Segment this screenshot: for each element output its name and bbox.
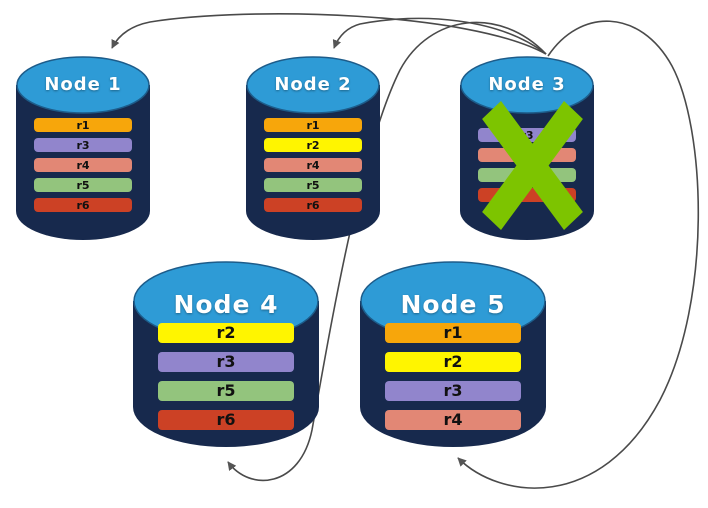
replica-row[interactable] bbox=[478, 188, 576, 202]
replica-row[interactable] bbox=[478, 168, 576, 182]
replica-row[interactable] bbox=[478, 148, 576, 162]
database-node-3[interactable]: Node 3r3 bbox=[460, 56, 594, 240]
replica-row[interactable]: r5 bbox=[158, 381, 294, 401]
replica-row-list: r2r3r5r6 bbox=[133, 323, 319, 430]
replica-row-list: r1r2r4r5r6 bbox=[246, 118, 380, 212]
replica-row[interactable]: r3 bbox=[385, 381, 521, 401]
replica-row-list: r1r3r4r5r6 bbox=[16, 118, 150, 212]
database-node-5[interactable]: Node 5r1r2r3r4 bbox=[360, 261, 546, 447]
diagram-canvas: Node 1r1r3r4r5r6Node 2r1r2r4r5r6Node 3r3… bbox=[0, 0, 708, 508]
replica-row[interactable]: r3 bbox=[34, 138, 132, 152]
database-node-4[interactable]: Node 4r2r3r5r6 bbox=[133, 261, 319, 447]
replica-row[interactable]: r3 bbox=[158, 352, 294, 372]
cylinder-top-cap bbox=[247, 57, 379, 113]
database-node-2[interactable]: Node 2r1r2r4r5r6 bbox=[246, 56, 380, 240]
replica-row[interactable]: r3 bbox=[478, 128, 576, 142]
replica-row[interactable]: r2 bbox=[385, 352, 521, 372]
replica-row-list: r1r2r3r4 bbox=[360, 323, 546, 430]
arrow-node3-to-node2 bbox=[334, 18, 546, 54]
replica-row[interactable]: r1 bbox=[34, 118, 132, 132]
cylinder-top-cap bbox=[461, 57, 593, 113]
replica-row[interactable]: r2 bbox=[264, 138, 362, 152]
replica-row[interactable]: r2 bbox=[158, 323, 294, 343]
database-node-1[interactable]: Node 1r1r3r4r5r6 bbox=[16, 56, 150, 240]
arrow-node3-to-node1 bbox=[112, 14, 546, 54]
cylinder-top-cap bbox=[17, 57, 149, 113]
replica-row[interactable]: r1 bbox=[385, 323, 521, 343]
replica-row[interactable]: r4 bbox=[385, 410, 521, 430]
replica-row[interactable]: r1 bbox=[264, 118, 362, 132]
replica-row[interactable]: r6 bbox=[264, 198, 362, 212]
replica-row[interactable]: r4 bbox=[34, 158, 132, 172]
replica-row-list: r3 bbox=[460, 128, 594, 202]
replica-row[interactable]: r5 bbox=[34, 178, 132, 192]
replica-row[interactable]: r6 bbox=[158, 410, 294, 430]
replica-row[interactable]: r5 bbox=[264, 178, 362, 192]
replica-row[interactable]: r4 bbox=[264, 158, 362, 172]
replica-row[interactable]: r6 bbox=[34, 198, 132, 212]
